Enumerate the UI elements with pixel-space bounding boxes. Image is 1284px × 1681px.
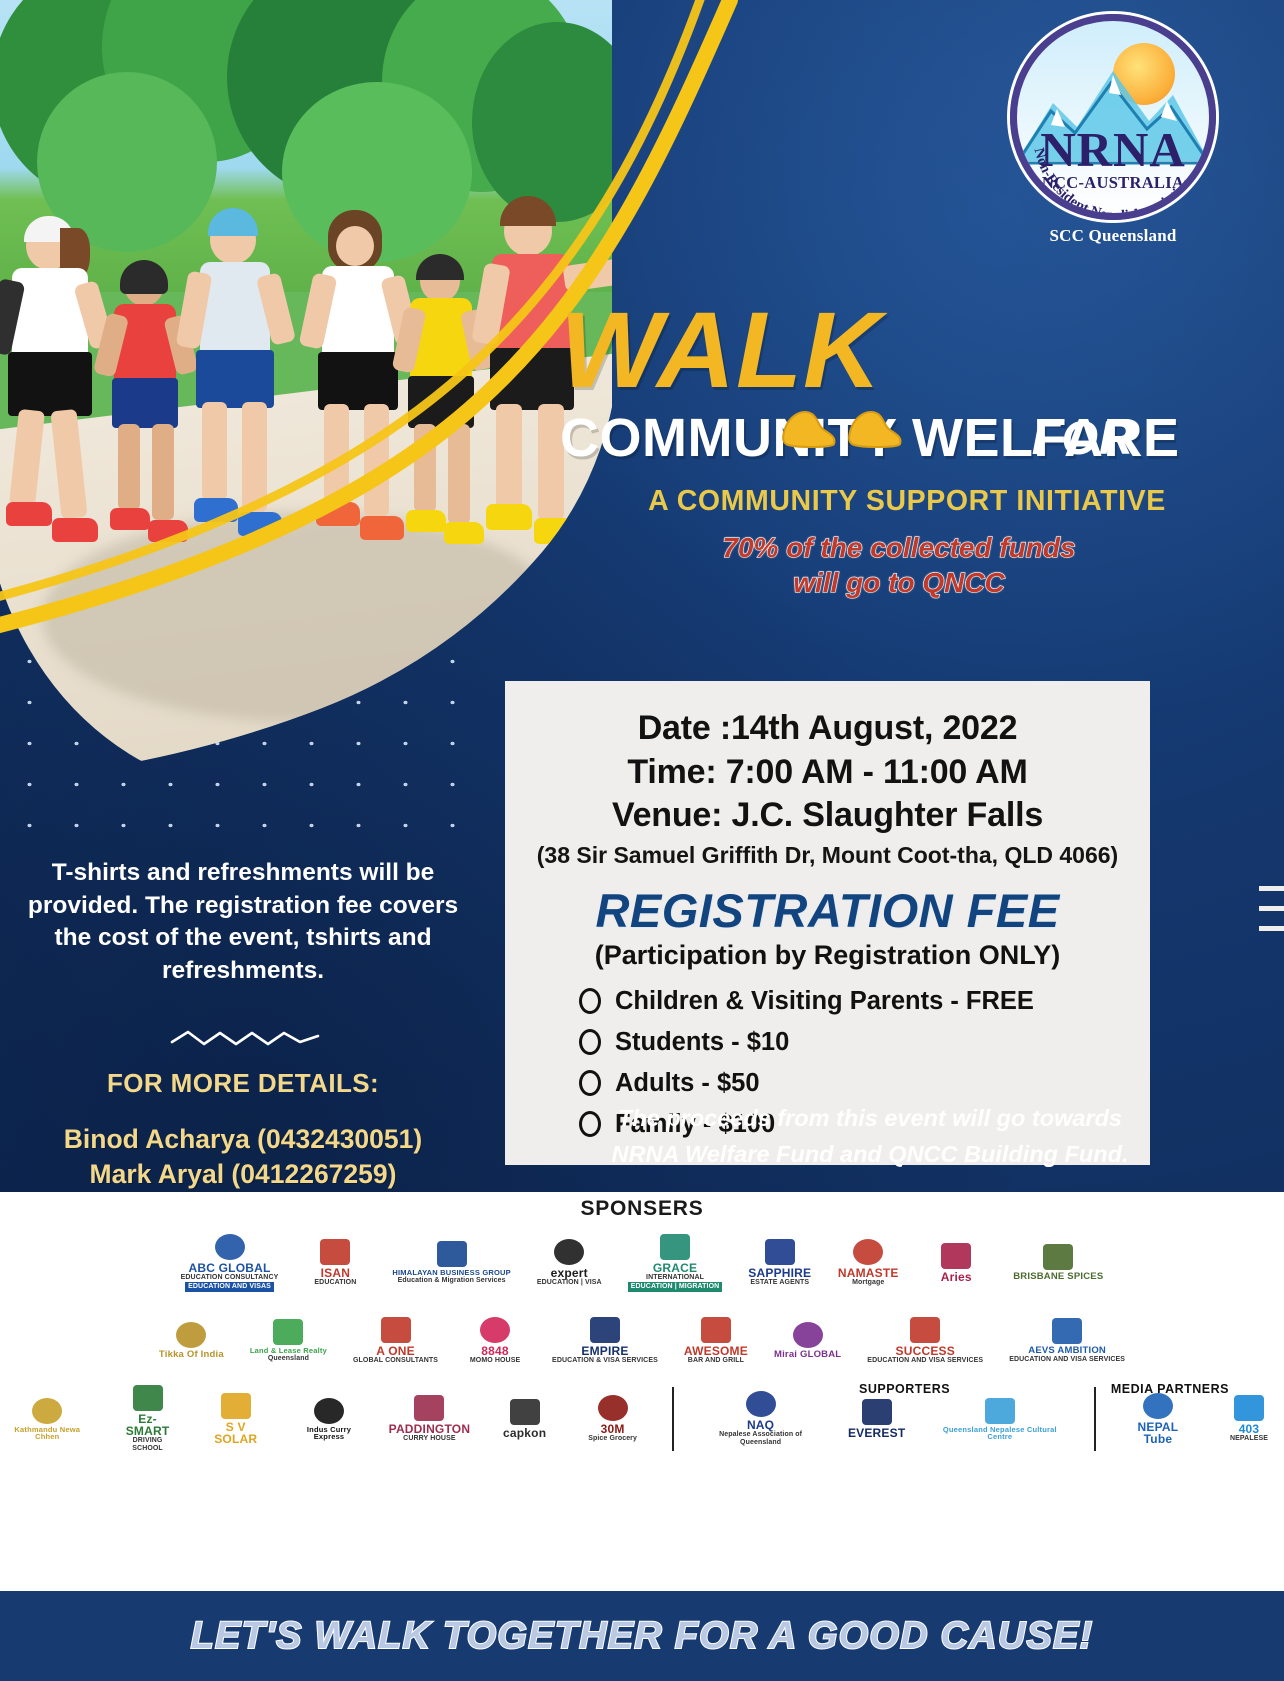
sponsor-tagline: DRIVING SCHOOL [117,1437,179,1452]
fee-option[interactable]: Adults - $50 [579,1069,1132,1098]
sponsor-name: SAPPHIRE [748,1267,811,1279]
headline-initiative: A COMMUNITY SUPPORT INITIATIVE [560,485,1260,518]
sponsor-row-1: ABC GLOBALEDUCATION CONSULTANCYEDUCATION… [0,1227,1284,1299]
sponsor-mark-icon [273,1319,303,1345]
sponsor-logo: ABC GLOBALEDUCATION CONSULTANCYEDUCATION… [177,1227,283,1299]
sponsor-name: NAQ [747,1419,774,1431]
edge-accent-bar [1259,906,1284,911]
sponsor-logo: A ONEGLOBAL CONSULTANTS [349,1305,442,1377]
sponsor-tagline: MOMO HOUSE [470,1357,520,1365]
sponsor-logo: ISANEDUCATION [300,1227,370,1299]
sponsor-mark-icon [133,1385,163,1411]
sponsor-mark-icon [746,1391,776,1417]
radio-icon[interactable] [579,1070,601,1096]
sponsor-name: EMPIRE [581,1345,628,1357]
sponsor-logo: 8848MOMO HOUSE [460,1305,530,1377]
registration-fee-title: REGISTRATION FEE [523,883,1132,938]
funds-line-2: will go to QNCC [560,565,1238,600]
group-divider [1094,1387,1096,1451]
sponsor-tagline: GLOBAL CONSULTANTS [353,1357,438,1365]
sponsor-logo: Aries [921,1227,991,1299]
sponsor-logo: BRISBANE SPICES [1009,1227,1107,1299]
sponsor-mark-icon [598,1395,628,1421]
fee-option[interactable]: Children & Visiting Parents - FREE [579,987,1132,1016]
nrna-chapter-label: SCC Queensland [1002,226,1224,246]
nrna-logo-circle: NRNA NCC-AUSTRALIA Non-Resident Nepali A… [1010,14,1216,220]
sponsor-logo: AEVS AMBITIONEDUCATION AND VISA SERVICES [1005,1305,1129,1377]
sponsor-name: SUCCESS [896,1345,955,1357]
footer-slogan: LET'S WALK TOGETHER FOR A GOOD CAUSE! [191,1615,1094,1658]
group-divider [672,1387,674,1451]
sponsor-name: ABC GLOBAL [189,1262,271,1274]
sponsor-mark-icon [1234,1395,1264,1421]
sponsor-logo: S V SOLAR [201,1383,271,1455]
sponsor-name: BRISBANE SPICES [1013,1272,1103,1282]
sponsor-name: NEPAL Tube [1124,1421,1192,1445]
sponsor-mark-icon [176,1322,206,1348]
poster-hero-area: NRNA NCC-AUSTRALIA Non-Resident Nepali A… [0,0,1284,1192]
sponsor-mark-icon [1052,1318,1082,1344]
sponsor-logo: NAMASTEMortgage [833,1227,903,1299]
sponsor-tagline: Spice Grocery [588,1435,637,1443]
event-date: Date :14th August, 2022 [523,707,1132,751]
proceeds-line-1: The proceeds from this event will go tow… [520,1100,1220,1136]
sponsor-mark-icon [510,1399,540,1425]
sponsor-tagline: Mortgage [852,1279,884,1287]
headline-funds: 70% of the collected funds will go to QN… [560,530,1260,600]
sponsor-mark-icon [590,1317,620,1343]
sponsor-tagline-secondary: EDUCATION AND VISAS [185,1282,274,1292]
headline-walk: WALK [560,300,882,399]
sponsor-tagline: CURRY HOUSE [403,1435,455,1443]
sponsor-name: 30M [601,1423,625,1435]
sponsor-tagline: EDUCATION AND VISA SERVICES [1009,1356,1125,1364]
headline-community-welfare: COMMUNITY WELFARE [560,407,1260,469]
walking-shoes-icon [778,398,910,452]
sponsor-logo: Tikka Of India [155,1305,228,1377]
proceeds-note: The proceeds from this event will go tow… [520,1100,1220,1173]
sponsor-name: AWESOME [684,1345,748,1357]
event-details-card: Date :14th August, 2022 Time: 7:00 AM - … [505,681,1150,1165]
sponsor-name: Tikka Of India [159,1350,224,1360]
nrna-logo: NRNA NCC-AUSTRALIA Non-Resident Nepali A… [1002,14,1224,269]
sponsor-mark-icon [660,1234,690,1260]
funds-line-1: 70% of the collected funds [560,530,1238,565]
sponsor-logo: Land & Lease RealtyQueensland [246,1305,331,1377]
sponsor-tagline: NEPALESE [1230,1435,1268,1443]
tshirt-refreshments-note: T-shirts and refreshments will be provid… [18,857,468,987]
sponsor-tagline: EDUCATION CONSULTANCY [181,1274,279,1282]
sponsor-tagline: INTERNATIONAL [646,1274,704,1282]
event-poster: NRNA NCC-AUSTRALIA Non-Resident Nepali A… [0,0,1284,1681]
fee-option-label: Students - $10 [615,1028,789,1057]
sponsor-name: Mirai GLOBAL [774,1350,841,1360]
sponsor-name: 8848 [481,1345,509,1357]
event-venue: Venue: J.C. Slaughter Falls [523,794,1132,838]
sponsor-name: Indus Curry Express [293,1426,365,1441]
contact-item: Binod Acharya (0432430051) [18,1122,468,1157]
sponsor-tagline: EDUCATION [314,1279,356,1287]
sponsor-mark-icon [480,1317,510,1343]
sponsor-mark-icon [1143,1393,1173,1419]
more-details-heading: FOR MORE DETAILS: [18,1068,468,1099]
sponsor-tagline: EDUCATION & VISA SERVICES [552,1357,658,1365]
svg-text:Non-Resident Nepali Associatio: Non-Resident Nepali Association [1030,146,1194,220]
radio-icon[interactable] [579,1029,601,1055]
sponsor-mark-icon [414,1395,444,1421]
sponsor-mark-icon [215,1234,245,1260]
sponsor-tagline: Queensland [268,1355,309,1363]
sponsor-tagline: Nepalese Association of Queensland [702,1431,820,1446]
sponsor-logo: PADDINGTONCURRY HOUSE [387,1383,471,1455]
sponsor-logo: 30MSpice Grocery [578,1383,648,1455]
sponsor-logo: expertEDUCATION | VISA [533,1227,606,1299]
sponsor-mark-icon [437,1241,467,1267]
edge-accent-bar [1259,926,1284,931]
sponsor-tagline: EDUCATION AND VISA SERVICES [867,1357,983,1365]
sponsor-name: capkon [503,1427,546,1439]
sponsor-logo: Mirai GLOBAL [770,1305,845,1377]
sponsor-mark-icon [554,1239,584,1265]
sponsor-mark-icon [793,1322,823,1348]
sponsor-logo: HIMALAYAN BUSINESS GROUPEducation & Migr… [388,1227,514,1299]
sponsor-name: AEVS AMBITION [1028,1346,1106,1356]
sponsor-mark-icon [320,1239,350,1265]
sponsor-tagline: Education & Migration Services [398,1277,506,1285]
sponsor-mark-icon [941,1243,971,1269]
sponsor-name: 403 [1239,1423,1260,1435]
sponsor-tagline-secondary: EDUCATION | MIGRATION [628,1282,723,1292]
radio-icon[interactable] [579,988,601,1014]
sponsor-mark-icon [862,1399,892,1425]
sponsor-logo: SAPPHIREESTATE AGENTS [744,1227,815,1299]
sponsor-logo: SUCCESSEDUCATION AND VISA SERVICES [863,1305,987,1377]
fee-option-label: Children & Visiting Parents - FREE [615,987,1034,1016]
sponsor-name: PADDINGTON [389,1423,471,1435]
contact-item: Mark Aryal (0412267259) [18,1157,468,1192]
sponsor-name: Ez-SMART [117,1413,179,1437]
event-time: Time: 7:00 AM - 11:00 AM [523,751,1132,795]
sponsor-name: NAMASTE [838,1267,899,1279]
sponsors-heading: SPONSERS [0,1197,1284,1221]
sponsor-name: ISAN [321,1267,350,1279]
sponsor-logo: GRACEINTERNATIONALEDUCATION | MIGRATION [624,1227,727,1299]
squiggle-divider-icon [170,1028,320,1050]
sponsor-mark-icon [765,1239,795,1265]
sponsor-name: expert [551,1267,588,1279]
edge-accent-bar [1259,886,1284,891]
sponsor-tagline: ESTATE AGENTS [750,1279,809,1287]
sponsor-tagline: EDUCATION | VISA [537,1279,602,1287]
sponsor-name: EVEREST [848,1427,905,1439]
sponsor-row-2: Tikka Of IndiaLand & Lease RealtyQueensl… [0,1305,1284,1377]
sponsor-mark-icon [1043,1244,1073,1270]
sponsor-mark-icon [701,1317,731,1343]
contacts-list: Binod Acharya (0432430051) Mark Aryal (0… [18,1122,468,1192]
sponsor-mark-icon [221,1393,251,1419]
sponsor-name: Land & Lease Realty [250,1347,327,1355]
sponsor-logo: EMPIREEDUCATION & VISA SERVICES [548,1305,662,1377]
proceeds-line-2: NRNA Welfare Fund and QNCC Building Fund… [520,1136,1220,1172]
sponsor-mark-icon [853,1239,883,1265]
sponsor-mark-icon [910,1317,940,1343]
sponsor-name: HIMALAYAN BUSINESS GROUP [392,1269,510,1277]
sponsor-mark-icon [985,1398,1015,1424]
sponsor-mark-icon [32,1398,62,1424]
event-address: (38 Sir Samuel Griffith Dr, Mount Coot-t… [523,842,1132,869]
sponsor-mark-icon [314,1398,344,1424]
supporter-logo: NAQNepalese Association of Queensland [698,1383,824,1455]
sponsor-tagline: BAR AND GRILL [688,1357,744,1365]
sponsor-name: Aries [941,1271,972,1283]
sponsor-group-labels: SUPPORTERS MEDIA PARTNERS [859,1382,1229,1396]
media-partners-label: MEDIA PARTNERS [1111,1382,1229,1396]
sponsor-name: GRACE [653,1262,697,1274]
fee-option[interactable]: Students - $10 [579,1028,1132,1057]
headline-block: WALK FOR COMMUNITY WELFARE A COMMUNITY S… [560,300,1260,600]
registration-note: (Participation by Registration ONLY) [523,940,1132,971]
sponsor-logo: Ez-SMARTDRIVING SCHOOL [113,1383,183,1455]
sponsor-mark-icon [381,1317,411,1343]
headline-for: FOR [1032,410,1134,465]
fee-option-label: Adults - $50 [615,1069,760,1098]
supporters-label: SUPPORTERS [859,1382,950,1396]
sponsor-logo: capkon [490,1383,560,1455]
sponsor-name: S V SOLAR [205,1421,267,1445]
nrna-logo-arc-text: Non-Resident Nepali Association [1017,21,1216,220]
sponsor-logo: Indus Curry Express [289,1383,369,1455]
sponsor-logo: AWESOMEBAR AND GRILL [680,1305,752,1377]
sponsor-name: Kathmandu Newa Chhen [4,1426,91,1441]
sponsor-name: A ONE [376,1345,415,1357]
sponsor-name: Queensland Nepalese Cultural Centre [934,1426,1066,1441]
sponsor-logo: Kathmandu Newa Chhen [0,1383,95,1455]
footer-banner: LET'S WALK TOGETHER FOR A GOOD CAUSE! [0,1591,1284,1681]
